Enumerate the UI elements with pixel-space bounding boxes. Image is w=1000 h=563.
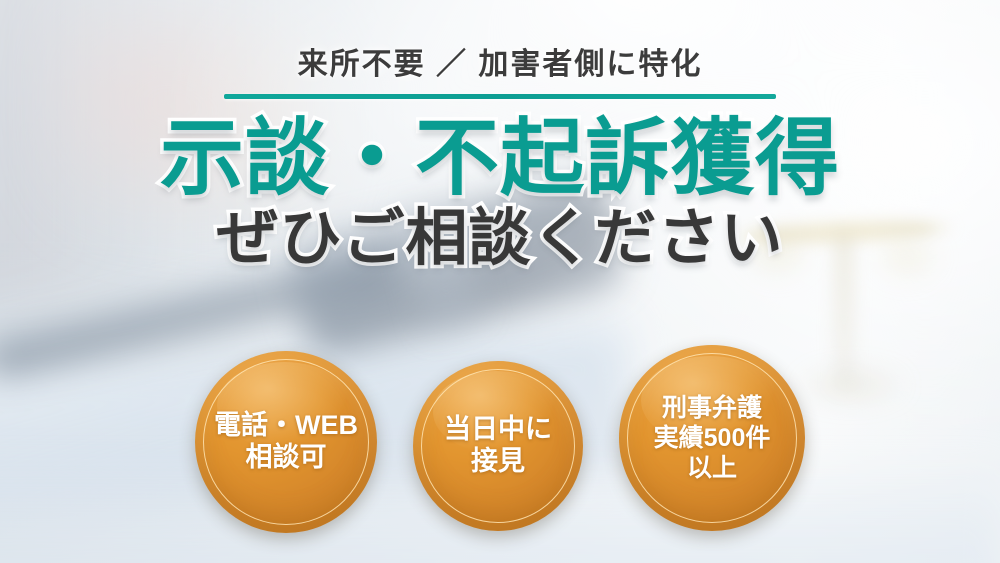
badge-line: 接見 <box>471 446 525 478</box>
badge-group: 電話・WEB 相談可 当日中に 接見 刑事弁護 実績500件 以上 <box>0 345 1000 533</box>
headline-text: 示談・不起訴獲得 <box>160 113 840 204</box>
badge-line: 刑事弁護 <box>662 393 762 423</box>
badge-line: 電話・WEB <box>214 410 358 442</box>
badge-line: 以上 <box>687 453 737 483</box>
badge-line: 当日中に <box>444 414 552 446</box>
badge-criminal-defense-record[interactable]: 刑事弁護 実績500件 以上 <box>619 345 805 531</box>
teal-divider-rule <box>224 94 776 99</box>
badge-line: 相談可 <box>246 442 327 474</box>
badge-same-day-visit[interactable]: 当日中に 接見 <box>413 361 583 531</box>
hero-banner: 来所不要 ／ 加害者側に特化 示談・不起訴獲得 ぜひご相談ください 電話・WEB… <box>0 0 1000 563</box>
subheadline-text: ぜひご相談ください <box>216 206 783 273</box>
eyebrow-text: 来所不要 ／ 加害者側に特化 <box>298 39 703 83</box>
badge-line: 実績500件 <box>654 423 771 453</box>
badge-phone-web-consultation[interactable]: 電話・WEB 相談可 <box>195 351 377 533</box>
